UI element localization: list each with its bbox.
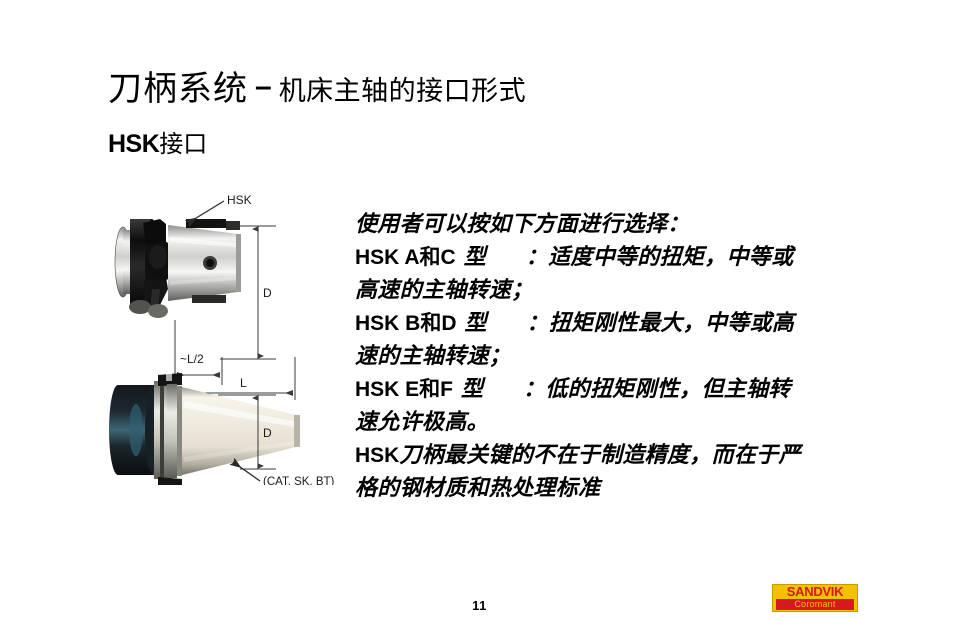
logo-sub-brand: Coromant <box>776 599 854 610</box>
body-text-line-text: 型 ：扭矩刚性最大，中等或高 <box>457 310 795 336</box>
hsk-leader-annotation: HSK <box>188 193 252 223</box>
body-text-line-text: 速的主轴转速； <box>355 343 511 369</box>
page-title-dash: – <box>248 70 279 103</box>
body-text-line-text: 格的钢材质和热处理标准 <box>355 475 600 501</box>
cat-sk-bt-leader-annotation: (CAT, SK, BT) <box>233 462 335 485</box>
body-text-line: HSK刀柄最关键的不在于制造精度，而在于严 <box>355 439 825 472</box>
hsk-type-code: HSK E和F <box>355 378 453 401</box>
page-title-main: 刀柄系统 <box>108 69 248 109</box>
body-text-line: 速允许极高。 <box>355 406 825 439</box>
body-text-block: 使用者可以按如下方面进行选择：HSK A和C 型 ：适度中等的扭矩，中等或高速的… <box>355 208 825 505</box>
page-title: 刀柄系统–机床主轴的接口形式 <box>108 72 526 106</box>
body-text-line: HSK A和C 型 ：适度中等的扭矩，中等或 <box>355 241 825 274</box>
logo-brand: SANDVIK <box>773 585 857 599</box>
body-text-line-text: 刀柄最关键的不在于制造精度，而在于严 <box>399 442 800 468</box>
section-subtitle: HSK接口 <box>108 132 207 157</box>
dim-l-half-label: ~L/2 <box>180 352 204 366</box>
dim-l-label: L <box>240 376 247 390</box>
section-subtitle-en: HSK <box>108 130 159 158</box>
body-text-line: 使用者可以按如下方面进行选择： <box>355 208 825 241</box>
hsk-type-code: HSK B和D <box>355 312 457 335</box>
section-subtitle-cn: 接口 <box>159 130 207 158</box>
hsk-type-code: HSK A和C <box>355 246 456 269</box>
body-text-line-text: 高速的主轴转速； <box>355 277 533 303</box>
toolholder-diagram: HSK D ~L/2 L <box>100 185 350 485</box>
body-text-line: 格的钢材质和热处理标准 <box>355 472 825 505</box>
hsk-holder-photo <box>115 219 241 318</box>
body-text-line: 速的主轴转速； <box>355 340 825 373</box>
hsk-label: HSK <box>227 193 252 207</box>
body-text-line-text: 型 ：适度中等的扭矩，中等或 <box>456 244 794 270</box>
body-text-line: 高速的主轴转速； <box>355 274 825 307</box>
body-text-line: HSK B和D 型 ：扭矩刚性最大，中等或高 <box>355 307 825 340</box>
body-text-line-text: 速允许极高。 <box>355 409 489 435</box>
cat-sk-bt-label: (CAT, SK, BT) <box>263 476 335 485</box>
page-title-subtext: 机床主轴的接口形式 <box>279 76 527 107</box>
dim-d-bottom-label: D <box>263 426 272 440</box>
sandvik-coromant-logo: SANDVIK Coromant <box>772 584 858 612</box>
dim-d-top-label: D <box>263 286 272 300</box>
body-text-line: HSK E和F 型 ：低的扭矩刚性，但主轴转 <box>355 373 825 406</box>
body-text-line-text: 使用者可以按如下方面进行选择： <box>355 211 690 237</box>
body-text-line-text: 型 ：低的扭矩刚性，但主轴转 <box>453 376 791 402</box>
hsk-type-code: HSK <box>355 444 399 467</box>
